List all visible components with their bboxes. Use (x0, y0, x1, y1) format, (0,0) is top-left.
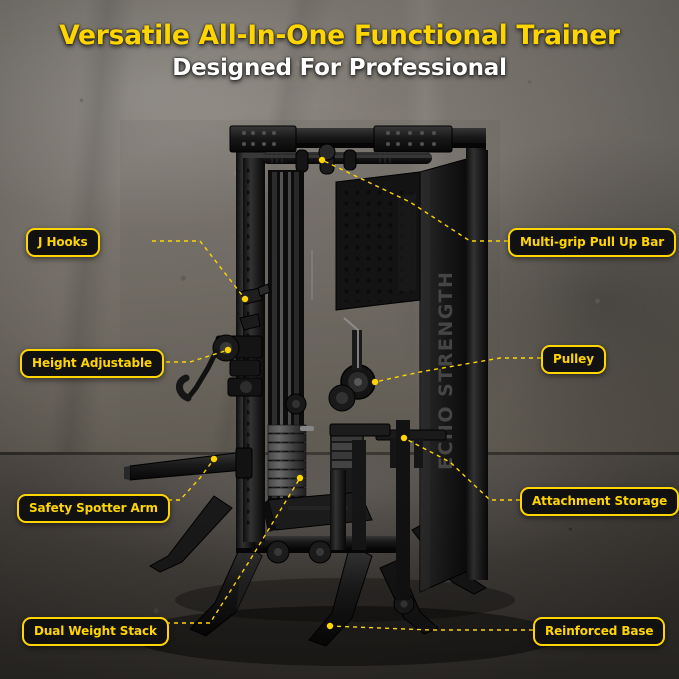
callout-attachment-storage: Attachment Storage (520, 487, 679, 516)
headline-primary: Versatile All-In-One Functional Trainer (5, 22, 674, 51)
callout-reinforced-base: Reinforced Base (533, 617, 665, 646)
headline-block: Versatile All-In-One Functional Trainer … (0, 22, 679, 81)
callout-safety-spotter-arm: Safety Spotter Arm (17, 494, 170, 523)
headline-secondary: Designed For Professional (0, 55, 679, 81)
callout-dual-weight-stack: Dual Weight Stack (22, 617, 169, 646)
functional-trainer-illustration: ECHO STRENGTH (0, 0, 679, 679)
callout-pulley: Pulley (541, 345, 606, 374)
callout-j-hooks: J Hooks (26, 228, 100, 257)
callout-multi-grip-pull-up-bar: Multi-grip Pull Up Bar (508, 228, 676, 257)
callout-height-adjustable: Height Adjustable (20, 349, 164, 378)
product-infographic: ECHO STRENGTH (0, 0, 679, 679)
